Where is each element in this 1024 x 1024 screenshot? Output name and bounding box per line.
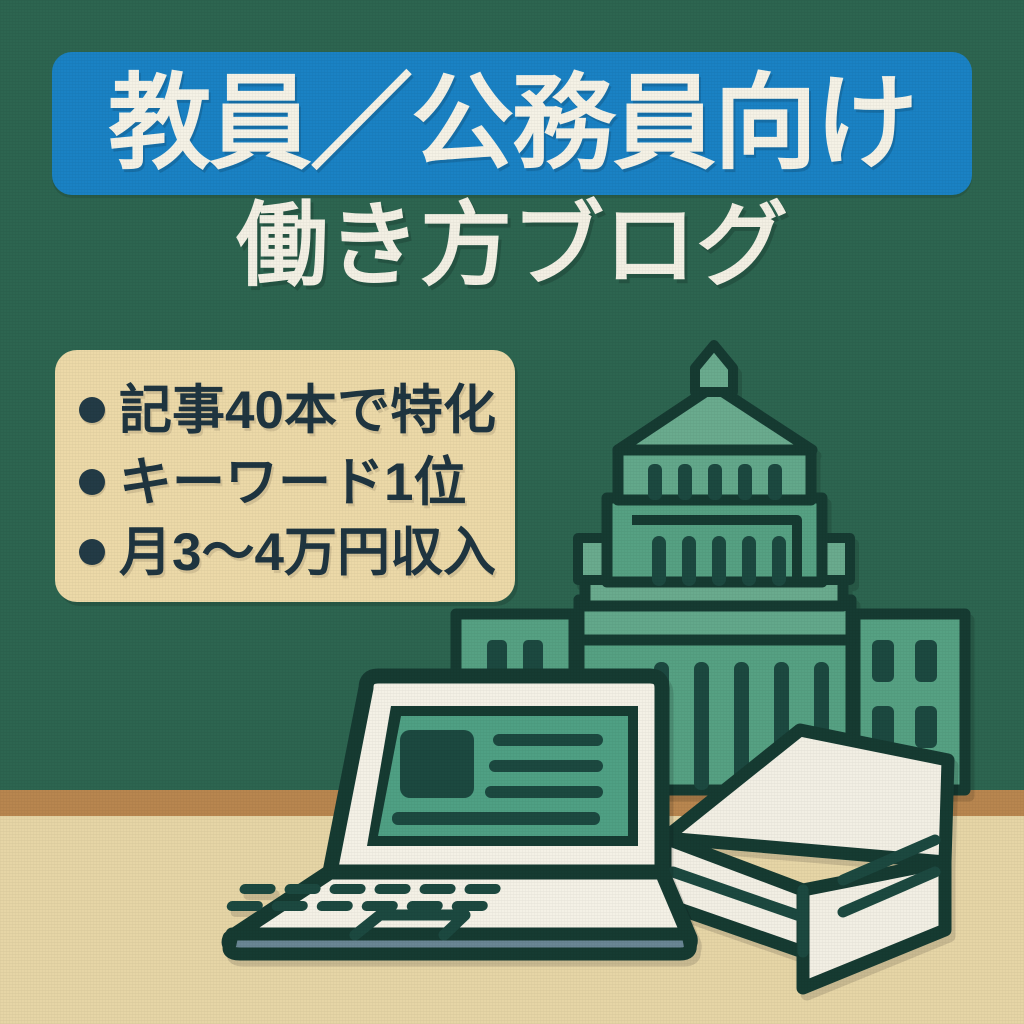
bullet-label: 記事40本で特化 <box>119 384 496 437</box>
bullet-label: キーワード1位 <box>119 456 466 509</box>
list-item: 記事40本で特化 <box>79 374 501 446</box>
bullet-label: 月3〜4万円収入 <box>119 526 496 579</box>
headline-banner: 教員／公務員向け <box>52 52 972 195</box>
bullet-dot-icon <box>79 539 105 565</box>
subtitle-text: 働き方ブログ <box>0 198 1024 295</box>
highlights-card: 記事40本で特化 キーワード1位 月3〜4万円収入 <box>55 350 515 602</box>
headline-text: 教員／公務員向け <box>108 72 916 176</box>
bullet-dot-icon <box>79 397 105 423</box>
list-item: 月3〜4万円収入 <box>79 516 501 588</box>
laptop-icon <box>226 676 690 954</box>
bullet-dot-icon <box>79 469 105 495</box>
poster-canvas: 教員／公務員向け 働き方ブログ 記事40本で特化 キーワード1位 月3〜4万円収… <box>0 0 1024 1024</box>
list-item: キーワード1位 <box>79 446 501 518</box>
